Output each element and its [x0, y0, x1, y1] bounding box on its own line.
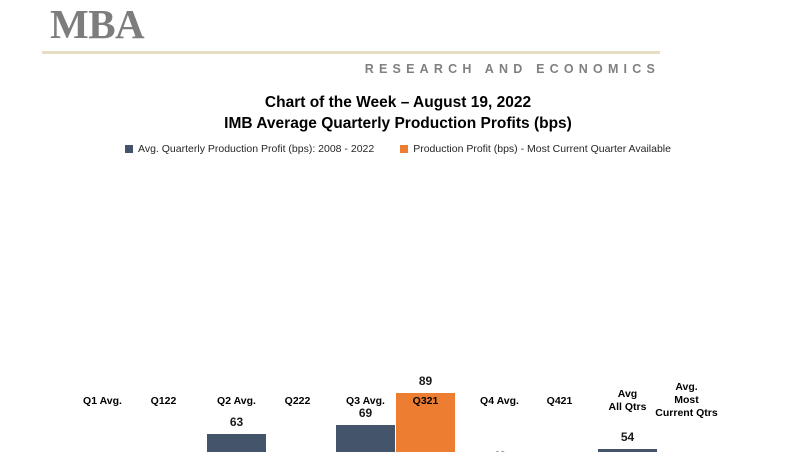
value-label-8: 54 — [598, 430, 657, 444]
mba-logo: MBA — [50, 2, 144, 46]
legend-label-avg-quarterly: Avg. Quarterly Production Profit (bps): … — [138, 143, 374, 155]
legend-item-avg-quarterly[interactable]: Avg. Quarterly Production Profit (bps): … — [125, 143, 374, 155]
bar-q2-avg[interactable] — [207, 434, 266, 452]
category-label-3: Q222 — [260, 395, 335, 408]
category-label-1: Q122 — [126, 395, 201, 408]
value-label-2: 63 — [207, 415, 266, 429]
chart-title: Chart of the Week – August 19, 2022 — [0, 92, 796, 113]
chart-legend: Avg. Quarterly Production Profit (bps): … — [0, 143, 796, 155]
bar-avg-all-qtrs[interactable] — [598, 449, 657, 452]
legend-swatch-icon-orange — [400, 145, 408, 153]
category-label-9: Avg. Most Current Qtrs — [649, 381, 724, 420]
legend-item-current-quarter[interactable]: Production Profit (bps) - Most Current Q… — [400, 143, 671, 155]
value-label-5: 89 — [396, 374, 455, 388]
chart-subtitle: IMB Average Quarterly Production Profits… — [0, 113, 796, 134]
brand-tagline: RESEARCH AND ECONOMICS — [0, 62, 660, 76]
category-label-7: Q421 — [522, 395, 597, 408]
category-label-5: Q321 — [388, 395, 463, 408]
legend-swatch-icon-blue — [125, 145, 133, 153]
chart-of-the-week-slide: MBA RESEARCH AND ECONOMICS Chart of the … — [0, 0, 796, 452]
brand-divider — [42, 51, 660, 54]
bar-q3-avg[interactable] — [336, 425, 395, 452]
plot-area: 40563-5698942385432 Q1 Avg.Q122Q2 Avg.Q2… — [0, 168, 796, 452]
legend-label-current-quarter: Production Profit (bps) - Most Current Q… — [413, 143, 671, 155]
